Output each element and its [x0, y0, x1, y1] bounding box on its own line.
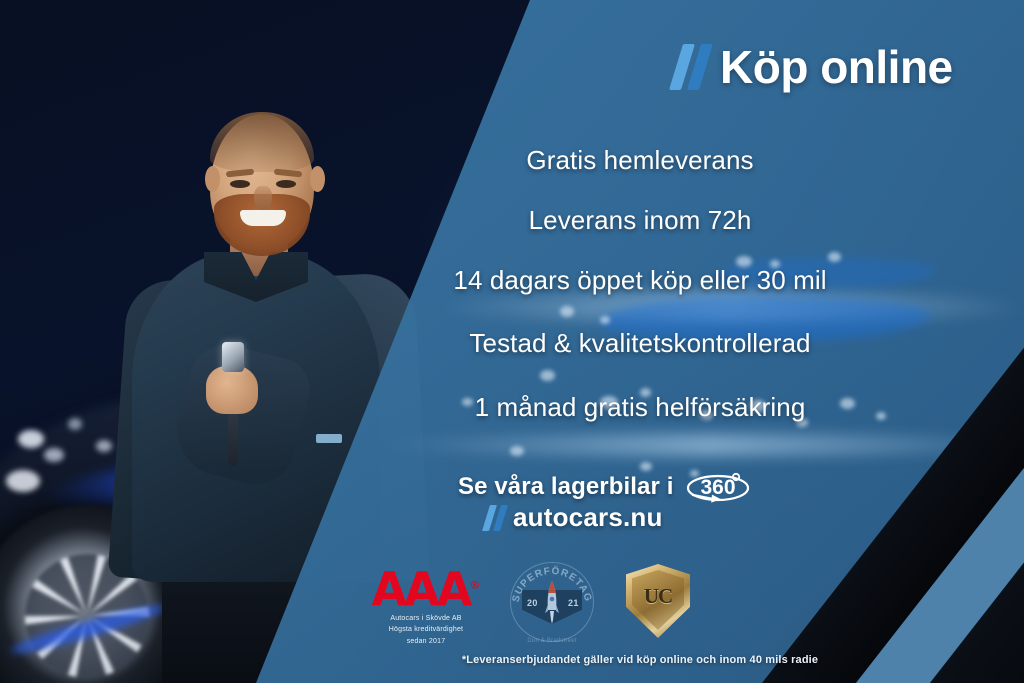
- headline-text: Köp online: [720, 44, 953, 90]
- uc-text: UC: [644, 584, 672, 609]
- cta-label: Se våra lagerbilar i: [458, 473, 673, 501]
- benefit-item: 1 månad gratis helförsäkring: [256, 394, 1024, 420]
- registered-mark: ®: [469, 579, 480, 592]
- badge-year-left: 20: [527, 598, 538, 608]
- website-link[interactable]: autocars.nu: [486, 502, 663, 533]
- double-slash-icon: [669, 44, 713, 90]
- 360-rotate-icon[interactable]: 360: [685, 466, 751, 508]
- aaa-note-1: Högsta kreditvärdighet: [364, 625, 488, 634]
- benefit-item: Leverans inom 72h: [256, 207, 1024, 233]
- rocket-icon: [544, 580, 560, 626]
- promo-banner: Köp online Gratis hemleverans Leverans i…: [0, 0, 1024, 683]
- svg-text:360: 360: [701, 476, 736, 499]
- aaa-note-2: sedan 2017: [364, 637, 488, 646]
- superforetag-badge: SUPERFÖRETAG 20 21 Dun & Bradstreet: [506, 558, 598, 646]
- uc-shield-inner: UC: [632, 570, 684, 630]
- benefit-item: Gratis hemleverans: [256, 147, 1024, 173]
- headline: Köp online: [676, 44, 953, 90]
- uc-shield-logo: UC: [618, 562, 698, 642]
- trust-logos: AAA® Autocars i Skövde AB Högsta kreditv…: [356, 556, 726, 648]
- double-slash-icon: [482, 505, 508, 531]
- benefit-item: Testad & kvalitetskontrollerad: [256, 330, 1024, 356]
- benefit-item: 14 dagars öppet köp eller 30 mil: [256, 267, 1024, 293]
- panel-content: Köp online Gratis hemleverans Leverans i…: [0, 0, 1024, 683]
- aaa-letters: AAA: [372, 562, 470, 616]
- aaa-credit-logo: AAA® Autocars i Skövde AB Högsta kreditv…: [364, 566, 488, 646]
- badge-year-right: 21: [568, 598, 579, 608]
- aaa-mark: AAA®: [364, 566, 488, 612]
- badge-footer: Dun & Bradstreet: [522, 638, 582, 644]
- website-url: autocars.nu: [513, 502, 663, 533]
- disclaimer-text: *Leveranserbjudandet gäller vid köp onli…: [256, 654, 1024, 666]
